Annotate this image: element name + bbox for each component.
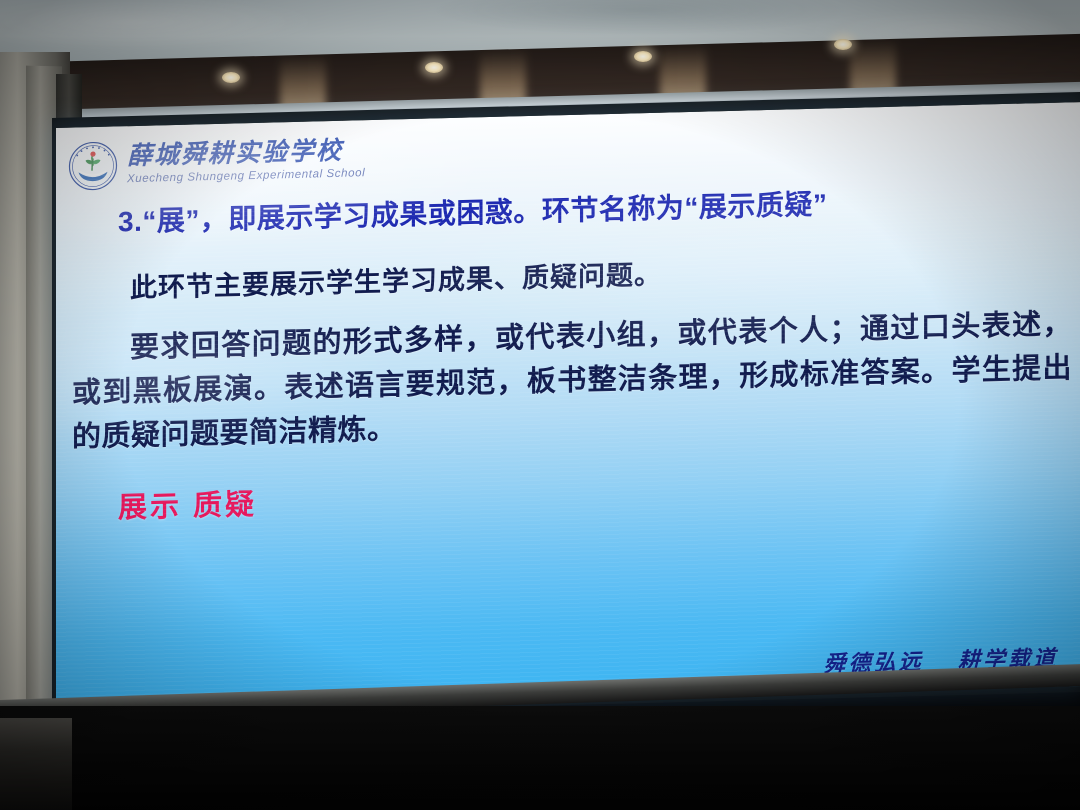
ceiling-downlight-icon — [425, 62, 443, 73]
school-seal-icon — [68, 140, 118, 191]
slide-highlight-text: 展示 质疑 — [118, 481, 257, 527]
floor-step — [0, 718, 72, 810]
school-name-block: 薛城舜耕实验学校 Xuecheng Shungeng Experimental … — [127, 138, 365, 186]
slide-header: 薛城舜耕实验学校 Xuecheng Shungeng Experimental … — [68, 134, 365, 192]
slide-paragraph-1: 此环节主要展示学生学习成果、质疑问题。 — [130, 243, 1030, 305]
floor-dark-area — [0, 706, 1080, 810]
slide-paragraph-2: 要求回答问题的形式多样，或代表小组，或代表个人；通过口头表述，或到黑板展演。表述… — [72, 302, 1072, 459]
school-name-cn: 薛城舜耕实验学校 — [127, 138, 365, 169]
ceiling-downlight-icon — [634, 51, 652, 62]
slide-canvas: 薛城舜耕实验学校 Xuecheng Shungeng Experimental … — [56, 102, 1080, 712]
photo-scene: 薛城舜耕实验学校 Xuecheng Shungeng Experimental … — [0, 0, 1080, 810]
ceiling-downlight-icon — [834, 39, 852, 50]
projection-screen[interactable]: 薛城舜耕实验学校 Xuecheng Shungeng Experimental … — [56, 102, 1080, 712]
ceiling-downlight-icon — [222, 72, 240, 83]
school-name-en: Xuecheng Shungeng Experimental School — [127, 168, 365, 186]
